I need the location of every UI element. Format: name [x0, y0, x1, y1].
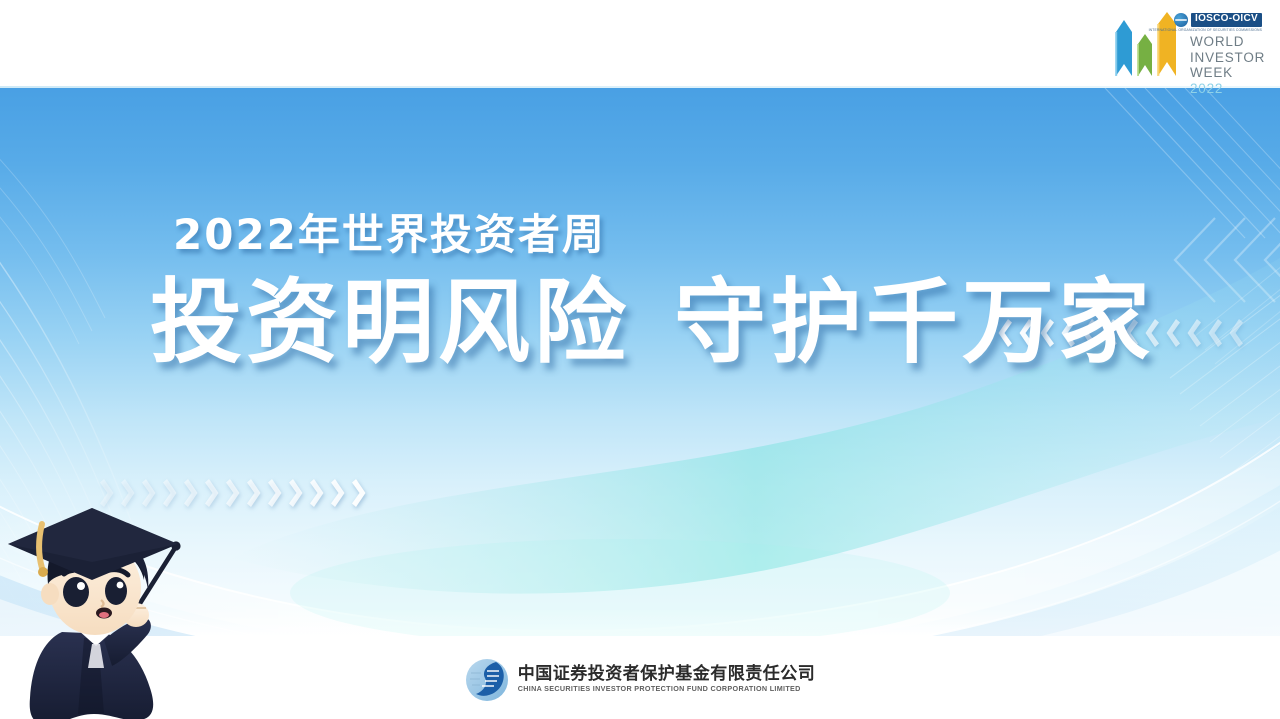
cipf-name-cn: 中国证券投资者保护基金有限责任公司 [518, 666, 816, 684]
header-bar: IOSCO-OICV INTERNATIONAL ORGANIZATION OF… [0, 0, 1280, 88]
header-divider [0, 86, 1280, 88]
chevron-left-icon [1226, 318, 1243, 348]
chevron-left-icon [1163, 318, 1180, 348]
poster-canvas: IOSCO-OICV INTERNATIONAL ORGANIZATION OF… [0, 0, 1280, 719]
wiw-week-label: WEEK [1190, 65, 1233, 80]
chevron-right-icon [352, 478, 369, 508]
upper-right-stripes [1105, 88, 1280, 238]
headline-part-1: 投资明风险 [150, 269, 630, 376]
chevron-right-icon [268, 478, 285, 508]
headline-part-2: 守护千万家 [674, 269, 1154, 376]
iosco-globe-icon [1174, 13, 1188, 27]
chevron-left-icon [1205, 318, 1222, 348]
chevron-right-icon [226, 478, 243, 508]
wiw-line-week: WEEK 2022 [1190, 65, 1264, 96]
cipf-logo: 中国证券投资者保护基金有限责任公司 CHINA SECURITIES INVES… [465, 658, 816, 702]
mascot-ear [41, 583, 59, 605]
chevron-right-icon [310, 478, 327, 508]
mascot-eye-right [105, 577, 127, 605]
iosco-wordmark: IOSCO-OICV [1191, 13, 1262, 27]
mascot-eye-highlight-right [117, 582, 124, 589]
iosco-badge: IOSCO-OICV [1174, 12, 1262, 28]
wiw-wordmark: WORLD INVESTOR WEEK 2022 [1190, 34, 1264, 96]
banner-headline: 投资明风险守护千万家 [150, 277, 1154, 369]
chevron-right-icon [247, 478, 264, 508]
mascot-tongue [99, 612, 109, 618]
chevron-right-icon [205, 478, 222, 508]
chevron-right-icon [289, 478, 306, 508]
world-investor-week-logo: IOSCO-OICV INTERNATIONAL ORGANIZATION OF… [1100, 4, 1266, 86]
cap-tassel [39, 524, 42, 568]
banner-kicker: 2022年世界投资者周 [173, 214, 606, 256]
iosco-subtitle: INTERNATIONAL ORGANIZATION OF SECURITIES… [1149, 28, 1262, 32]
wiw-year: 2022 [1190, 81, 1223, 96]
graduate-mascot-icon [0, 488, 200, 719]
wiw-line-investor: INVESTOR [1190, 50, 1264, 66]
chevron-right-icon [331, 478, 348, 508]
cipf-logo-text: 中国证券投资者保护基金有限责任公司 CHINA SECURITIES INVES… [518, 666, 816, 692]
chevron-left-icon [1184, 318, 1201, 348]
cap-tassel-knot [38, 567, 48, 577]
mascot-eye-highlight-left [77, 582, 85, 590]
mascot-eye-left [63, 577, 89, 607]
cipf-logo-mark-icon [465, 658, 509, 702]
mortarboard-cap [8, 508, 178, 580]
left-line-fan-upper [0, 128, 105, 344]
cipf-name-en: CHINA SECURITIES INVESTOR PROTECTION FUN… [518, 685, 816, 693]
wiw-line-world: WORLD [1190, 34, 1264, 50]
